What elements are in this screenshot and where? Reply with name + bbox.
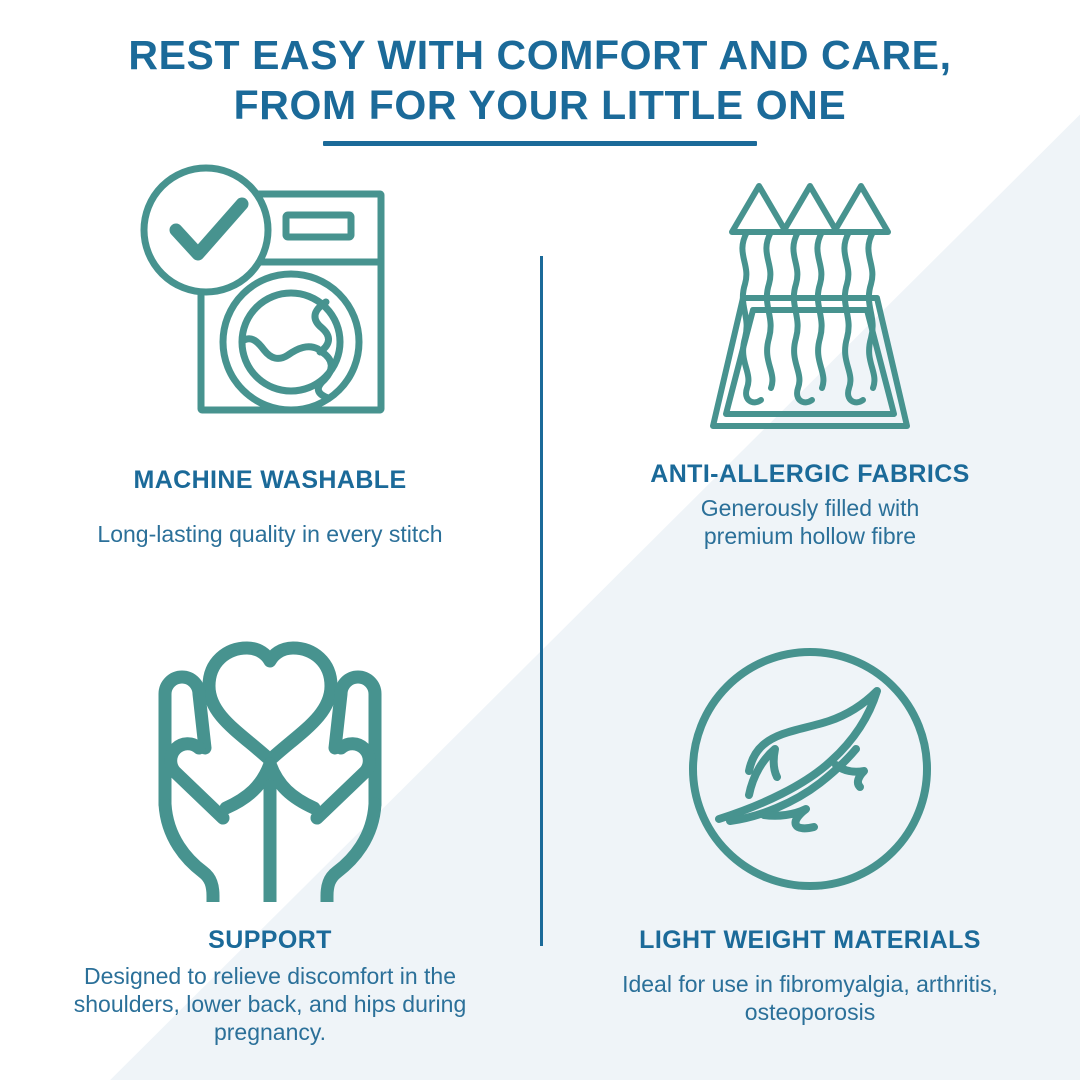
feature-card-light-weight-materials: LIGHT WEIGHT MATERIALS Ideal for use in … <box>540 622 1080 1080</box>
washing-machine-check-icon <box>134 160 406 448</box>
feature-title-anti-allergic-fabrics: ANTI-ALLERGIC FABRICS <box>650 460 970 488</box>
title-line-1: REST EASY WITH COMFORT AND CARE, <box>0 30 1080 80</box>
page-title: REST EASY WITH COMFORT AND CARE, FROM FO… <box>0 30 1080 146</box>
infographic-content: REST EASY WITH COMFORT AND CARE, FROM FO… <box>0 0 1080 1080</box>
title-line-2: FROM FOR YOUR LITTLE ONE <box>0 80 1080 130</box>
feature-title-support: SUPPORT <box>208 926 332 954</box>
infographic-canvas: REST EASY WITH COMFORT AND CARE, FROM FO… <box>0 0 1080 1080</box>
feature-description-anti-allergic-fabrics: Generously filled with premium hollow fi… <box>685 494 935 550</box>
feature-description-machine-washable: Long-lasting quality in every stitch <box>97 520 442 548</box>
feature-description-support: Designed to relieve discomfort in the sh… <box>70 962 470 1046</box>
vertical-divider <box>540 256 543 946</box>
title-underline <box>323 141 757 146</box>
feature-description-light-weight-materials: Ideal for use in fibromyalgia, arthritis… <box>620 970 1000 1026</box>
feature-card-machine-washable: MACHINE WASHABLE Long-lasting quality in… <box>0 160 540 622</box>
feature-card-support: SUPPORT Designed to relieve discomfort i… <box>0 622 540 1080</box>
feather-in-circle-icon <box>686 634 934 904</box>
feature-title-machine-washable: MACHINE WASHABLE <box>133 466 406 494</box>
feature-title-light-weight-materials: LIGHT WEIGHT MATERIALS <box>639 926 981 954</box>
hands-holding-heart-icon <box>137 634 403 904</box>
feature-card-anti-allergic-fabrics: ANTI-ALLERGIC FABRICS Generously filled … <box>540 160 1080 622</box>
breathable-fabric-arrows-icon <box>685 174 935 446</box>
title-text: REST EASY WITH COMFORT AND CARE, FROM FO… <box>0 30 1080 130</box>
